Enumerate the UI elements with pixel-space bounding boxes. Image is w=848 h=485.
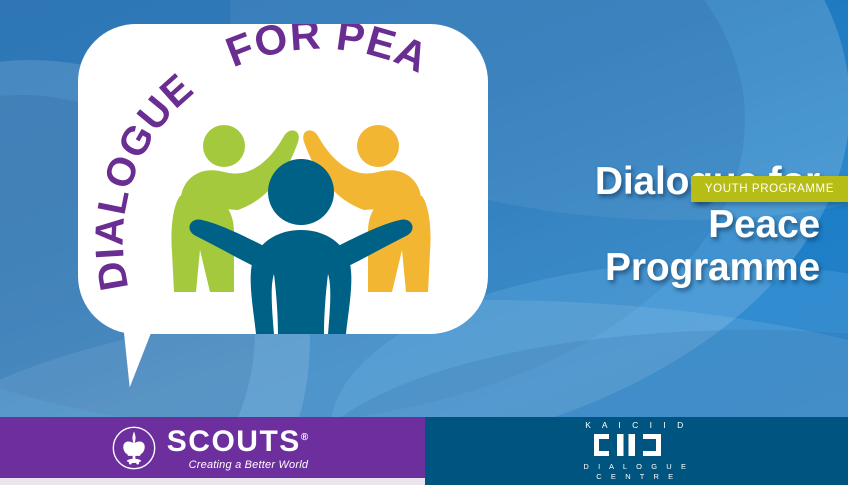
kaiciid-name: K A I C I I D [585,420,687,431]
scouts-wordmark: SCOUTS® [167,423,308,457]
kaiciid-mark-icon [591,431,683,459]
kaiciid-logo: K A I C I I D D I A L O G U E C E N T R … [583,420,689,482]
logo-arc-text-for-peace: FOR PEACE [78,24,436,82]
kaiciid-centre-text: C E N T R E [596,472,677,482]
kaiciid-dialogue-text: D I A L O G U E [583,462,689,472]
fleur-de-lis-icon [111,425,157,471]
scouts-tagline: Creating a Better World [189,458,309,472]
footer-scouts-panel: SCOUTS® Creating a Better World [0,417,425,478]
dialogue-for-peace-logo: DIALOGUE FOR PEACE [78,24,488,334]
logo-artwork: DIALOGUE FOR PEACE [78,24,488,334]
footer-left-bottom-strip [0,478,425,485]
footer-bar: SCOUTS® Creating a Better World K A I C … [0,417,848,485]
scouts-logo: SCOUTS® Creating a Better World [111,423,308,472]
youth-programme-badge: YOUTH PROGRAMME [691,176,848,202]
scouts-brand-text: SCOUTS [167,425,301,458]
footer-kaiciid-panel: K A I C I I D D I A L O G U E C E N T R … [425,417,848,485]
registered-mark: ® [301,432,308,443]
presentation-slide: DIALOGUE FOR PEACE [0,0,848,485]
